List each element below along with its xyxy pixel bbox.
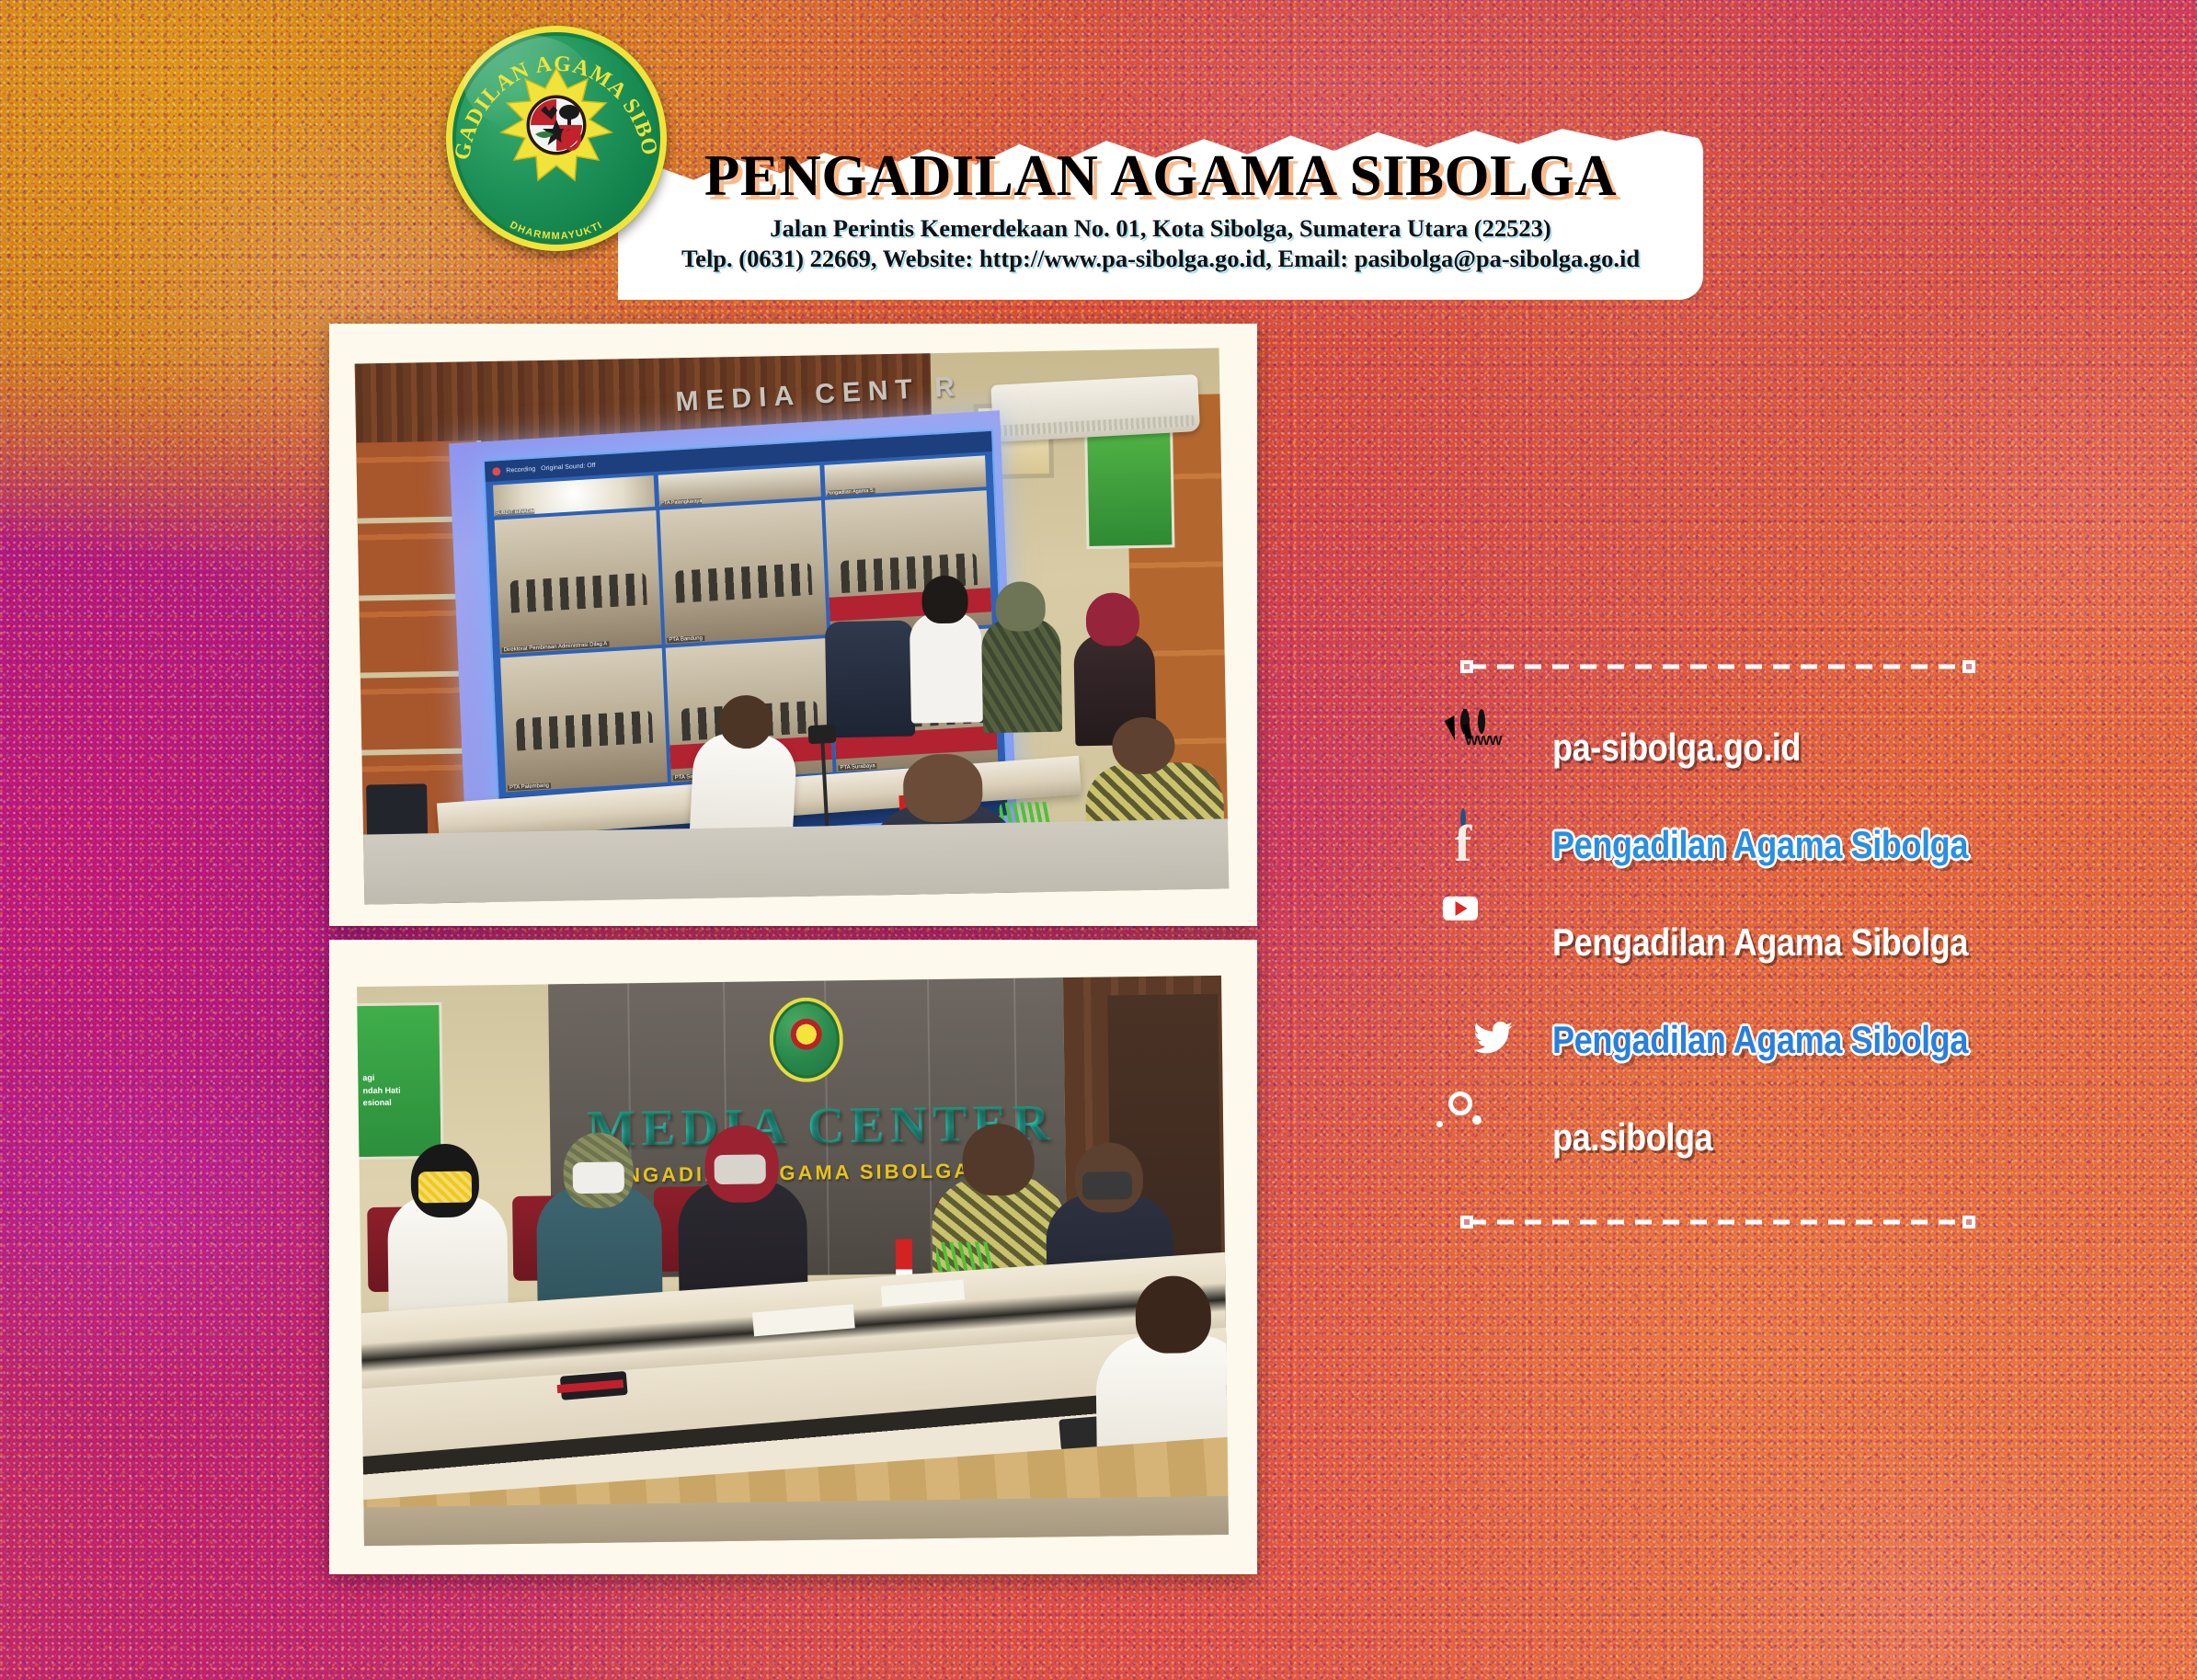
facebook-icon: f <box>1460 811 1528 879</box>
social-label-twitter: Pengadilan Agama Sibolga <box>1552 1021 1968 1059</box>
zoom-tile-label: PTA Bandung <box>667 635 704 643</box>
divider-bottom <box>1460 1216 1975 1229</box>
zoom-audio-label: Original Sound: Off <box>541 462 596 472</box>
header-address-line: Jalan Perintis Kemerdekaan No. 01, Kota … <box>770 213 1550 243</box>
photo-card-top: MEDIA CENT R Recording Original Sound: O… <box>329 324 1257 926</box>
photo-bottom-image: agi ndah Hati esional MEDIA CENTER PENGA… <box>357 976 1229 1546</box>
green-poster: agi ndah Hati esional <box>357 1002 443 1160</box>
zoom-thumb: Pengadilan Agama S. <box>824 455 986 497</box>
seal-emblem <box>498 66 615 184</box>
header-contact-line: Telp. (0631) 22669, Website: http://www.… <box>681 244 1640 273</box>
social-label-youtube: Pengadilan Agama Sibolga <box>1552 923 1968 962</box>
zoom-thumb-label: SUBDIT BINADM <box>495 509 534 517</box>
recording-dot-icon <box>492 467 500 476</box>
face-mask <box>573 1161 624 1194</box>
zoom-thumb: SUBDIT BINADM <box>493 475 655 517</box>
person-seated <box>910 611 983 723</box>
divider-cap-right <box>1962 660 1975 673</box>
scene-media-center-projector: MEDIA CENT R Recording Original Sound: O… <box>355 348 1230 904</box>
face-mask <box>418 1171 472 1204</box>
social-label-website: pa-sibolga.go.id <box>1552 728 1801 767</box>
scene-media-center-staff: agi ndah Hati esional MEDIA CENTER PENGA… <box>357 976 1229 1546</box>
social-item-website[interactable]: WWW pa-sibolga.go.id <box>1460 714 1975 782</box>
zoom-tile: PTA Medan <box>825 490 992 634</box>
social-media-panel: WWW pa-sibolga.go.id f Pengadilan Agama … <box>1460 660 1975 1249</box>
social-list: WWW pa-sibolga.go.id f Pengadilan Agama … <box>1460 714 1975 1171</box>
person-seated <box>981 618 1062 734</box>
poster-text: agi ndah Hati esional <box>362 1072 401 1110</box>
face-mask <box>714 1154 765 1184</box>
zoom-thumb-label: Pengadilan Agama S. <box>826 488 875 497</box>
social-item-instagram[interactable]: pa.sibolga <box>1460 1103 1975 1171</box>
office-chair <box>825 621 915 738</box>
zoom-recording-label: Recording <box>506 465 535 474</box>
divider-dashes <box>1470 1220 1966 1225</box>
header: PENGADILAN AGAMA SIBOLGA Jalan Perintis … <box>0 0 2197 303</box>
instagram-icon <box>1460 1103 1528 1171</box>
zoom-thumb: PTA Palangkaraya <box>658 465 820 507</box>
zoom-tile-label: PTA Palembang <box>508 783 551 791</box>
poster-line: ndah Hati <box>362 1084 400 1097</box>
poster-line: agi <box>362 1072 400 1085</box>
divider-dashes <box>1470 665 1966 669</box>
zoom-tile: PTA Bandung <box>659 500 827 644</box>
svg-text:DHARMMAYUKTI: DHARMMAYUKTI <box>508 220 604 242</box>
social-label-facebook: Pengadilan Agama Sibolga <box>1552 826 1968 864</box>
social-item-youtube[interactable]: Pengadilan Agama Sibolga <box>1460 909 1975 977</box>
social-item-twitter[interactable]: Pengadilan Agama Sibolga <box>1460 1006 1975 1074</box>
photo-top-image: MEDIA CENT R Recording Original Sound: O… <box>355 348 1230 904</box>
wall-sign-subtitle: PENGADILAN AGAMA SIBOLGA <box>593 1159 972 1187</box>
divider-cap-right <box>1962 1216 1975 1229</box>
youtube-icon <box>1460 909 1528 977</box>
social-item-facebook[interactable]: f Pengadilan Agama Sibolga <box>1460 811 1975 879</box>
zoom-tile: PTA Palembang <box>500 648 668 792</box>
zoom-tile-label: PTA Surabaya <box>838 763 876 771</box>
court-seal-icon: PENGADILAN AGAMA SIBOLGA DHARMMAYUKTI <box>446 26 667 251</box>
page-title: PENGADILAN AGAMA SIBOLGA <box>704 147 1617 205</box>
social-label-instagram: pa.sibolga <box>1552 1118 1712 1157</box>
divider-top <box>1460 660 1975 673</box>
air-conditioner <box>990 374 1200 442</box>
globe-www-icon: WWW <box>1460 714 1528 782</box>
zoom-thumb-label: PTA Palangkaraya <box>660 498 702 507</box>
zoom-tile: Direktorat Pembinaan Administrasi Dilag … <box>495 510 662 654</box>
twitter-icon <box>1460 1006 1528 1074</box>
face-mask <box>1082 1171 1132 1200</box>
header-text-block: PENGADILAN AGAMA SIBOLGA Jalan Perintis … <box>618 129 1703 300</box>
poster-line: esional <box>363 1097 401 1110</box>
photo-card-bottom: agi ndah Hati esional MEDIA CENTER PENGA… <box>329 940 1257 1574</box>
